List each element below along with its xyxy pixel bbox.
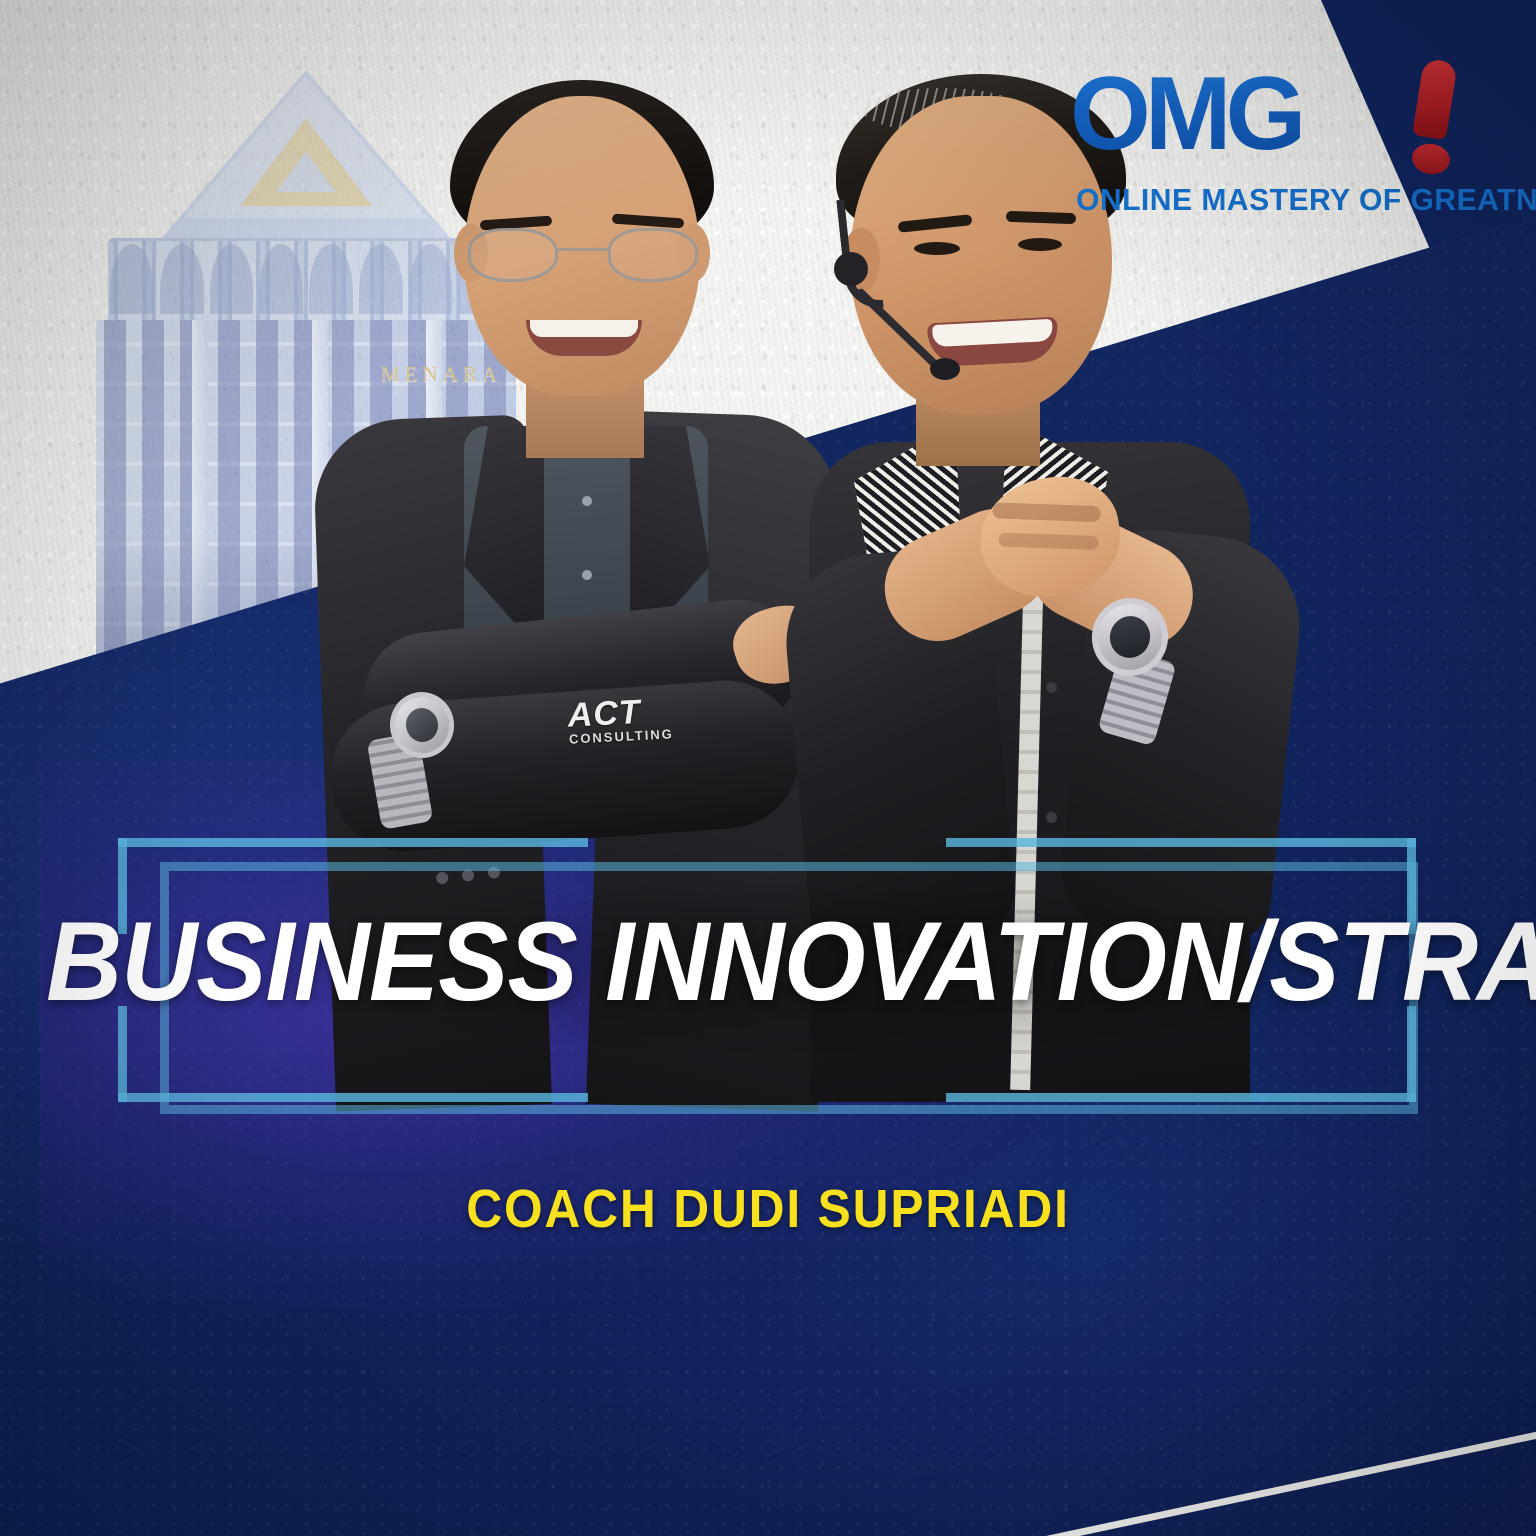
speaker-right-eye [1018,238,1062,251]
omg-logo-tagline: ONLINE MASTERY OF GREATNESS [1076,182,1464,218]
omg-logo: OMG ONLINE MASTERY OF GREATNESS [1070,62,1470,240]
promotional-poster: MENARA [0,0,1536,1536]
exclamation-mark-icon [1410,60,1462,168]
microphone-icon [930,358,960,380]
speaker-left-smile [526,320,642,356]
speaker-name-subtitle: COACH DUDI SUPRIADI [61,1178,1474,1240]
headset-earpiece-icon [834,252,868,286]
omg-logo-text: OMG [1070,62,1400,166]
headline-title: BUSINESS INNOVATION/STRATEGIC [46,906,1490,1018]
speaker-right-eye [914,242,960,255]
eyeglasses-icon [464,228,702,286]
jacket-logo: ACT CONSULTING [567,693,674,745]
